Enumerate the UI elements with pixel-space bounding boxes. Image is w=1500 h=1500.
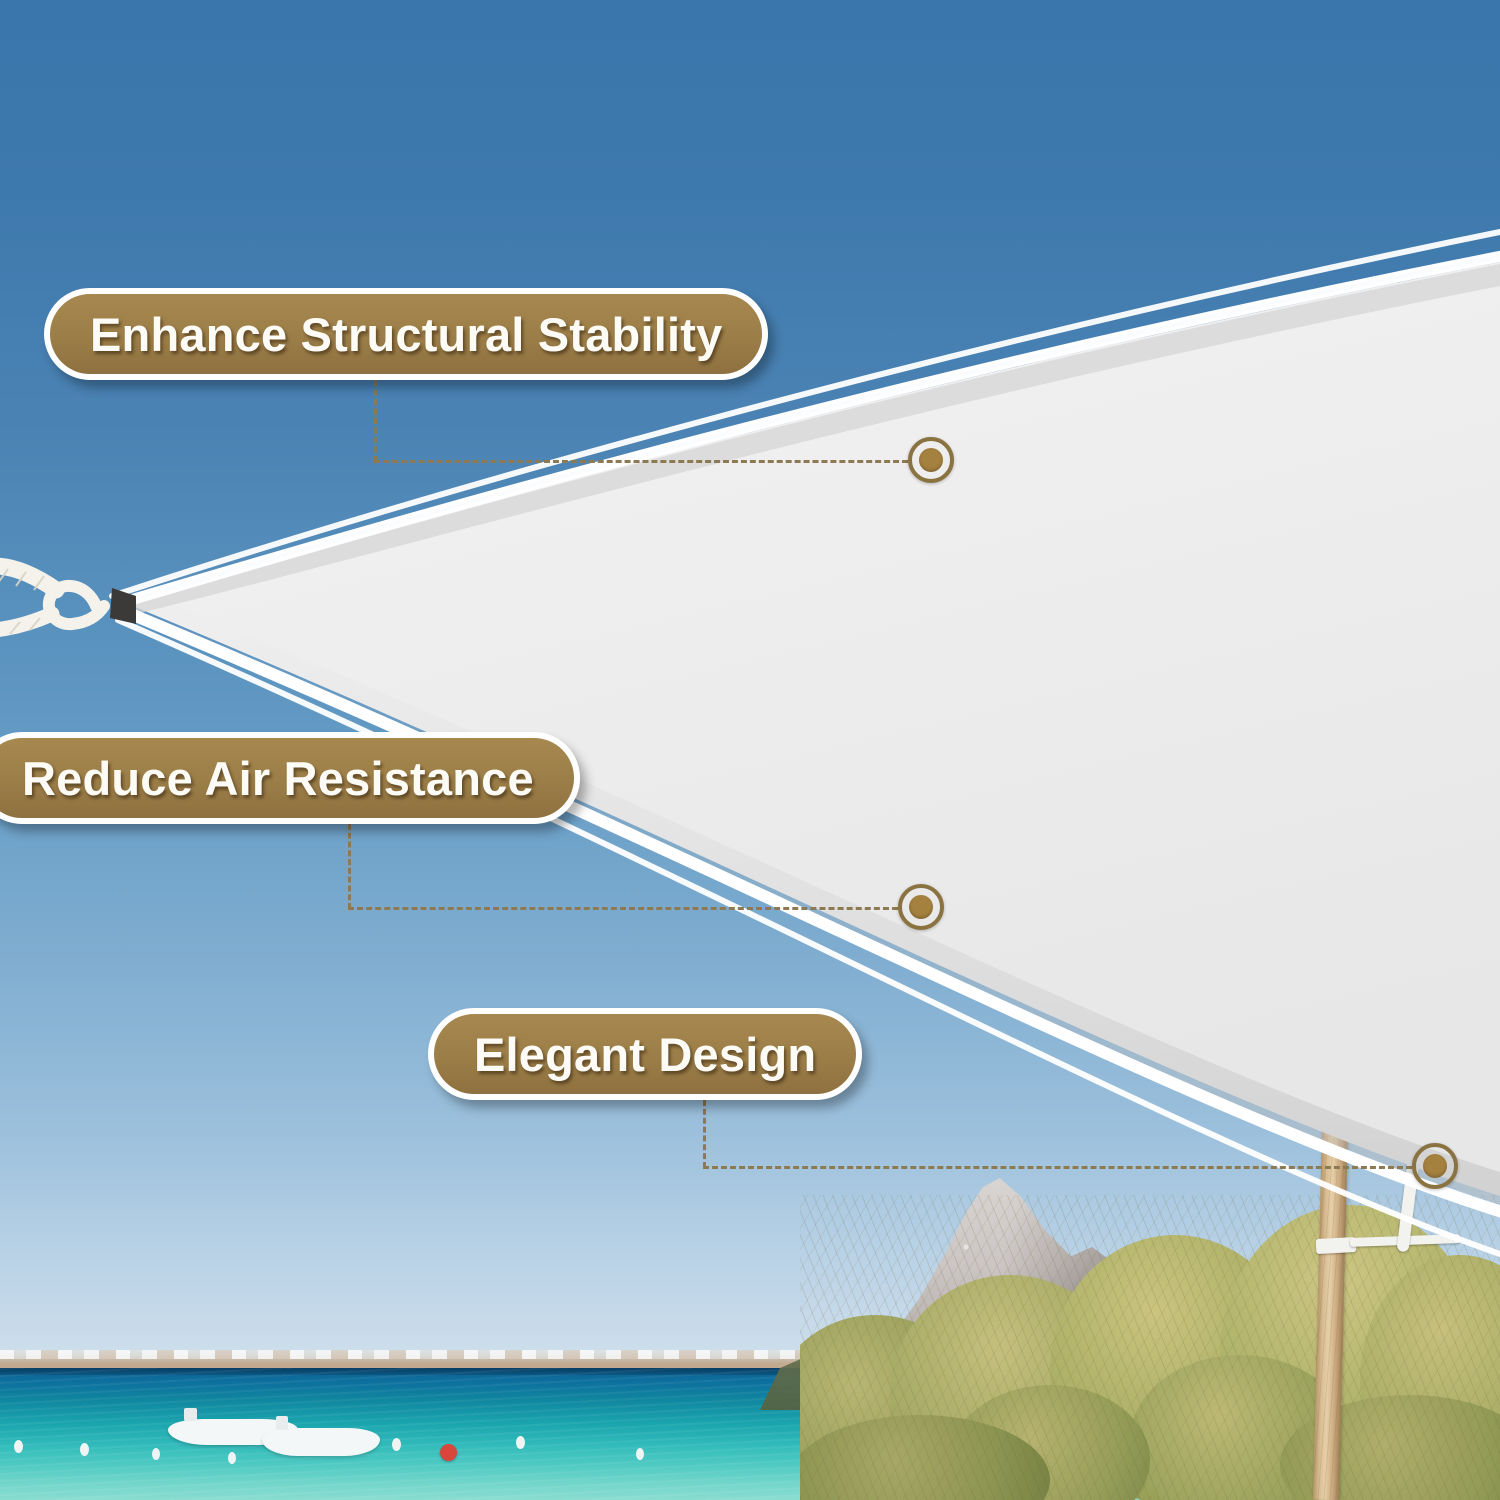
- callout-marker-3[interactable]: [1412, 1143, 1458, 1189]
- anchor-rope: [0, 566, 104, 630]
- callout-badge-enhance-structural-stability[interactable]: Enhance Structural Stability: [44, 288, 768, 380]
- marker-dot: [909, 895, 933, 919]
- callout-label: Enhance Structural Stability: [90, 307, 722, 362]
- callout-marker-2[interactable]: [898, 884, 944, 930]
- product-feature-image: Enhance Structural Stability Reduce Air …: [0, 0, 1500, 1500]
- callout-badge-elegant-design[interactable]: Elegant Design: [428, 1008, 862, 1100]
- marker-dot: [919, 448, 943, 472]
- callout-badge-reduce-air-resistance[interactable]: Reduce Air Resistance: [0, 732, 580, 824]
- callout-label: Elegant Design: [474, 1027, 816, 1082]
- callout-label: Reduce Air Resistance: [22, 751, 534, 806]
- marker-dot: [1423, 1154, 1447, 1178]
- callout-marker-1[interactable]: [908, 437, 954, 483]
